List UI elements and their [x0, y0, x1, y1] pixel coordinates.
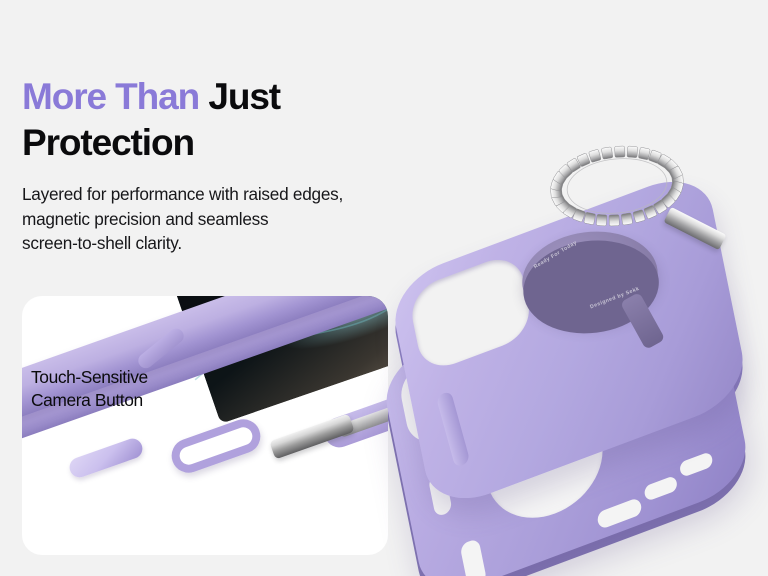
card-label-line-2: Camera Button	[31, 389, 148, 412]
side-button-rail	[436, 390, 470, 468]
action-button-cutout	[460, 538, 488, 576]
button-cap-part	[67, 436, 145, 480]
camera-button-card: Touch-Sensitive Camera Button	[22, 296, 388, 555]
upper-camera-cutout	[407, 250, 534, 375]
button-bezel-ring-part	[167, 415, 265, 478]
speaker-grille-right	[679, 451, 714, 478]
subcopy-line-2: magnetic precision and seamless	[22, 207, 452, 232]
headline-accent: More Than	[22, 76, 199, 117]
speaker-grille-left	[643, 475, 678, 502]
card-label: Touch-Sensitive Camera Button	[31, 366, 148, 412]
subcopy-line-1: Layered for performance with raised edge…	[22, 182, 452, 207]
card-label-line-1: Touch-Sensitive	[31, 366, 148, 389]
usb-c-port-cutout	[596, 497, 643, 530]
subcopy: Layered for performance with raised edge…	[22, 182, 452, 256]
subcopy-line-3: screen-to-shell clarity.	[22, 231, 452, 256]
exploded-case-render: Ready For Today Designed by Sekk	[392, 128, 768, 576]
magnet-ring-icon	[540, 133, 695, 240]
product-feature-panel: More Than Just Protection Layered for pe…	[0, 0, 768, 576]
page-title: More Than Just Protection	[22, 74, 452, 166]
